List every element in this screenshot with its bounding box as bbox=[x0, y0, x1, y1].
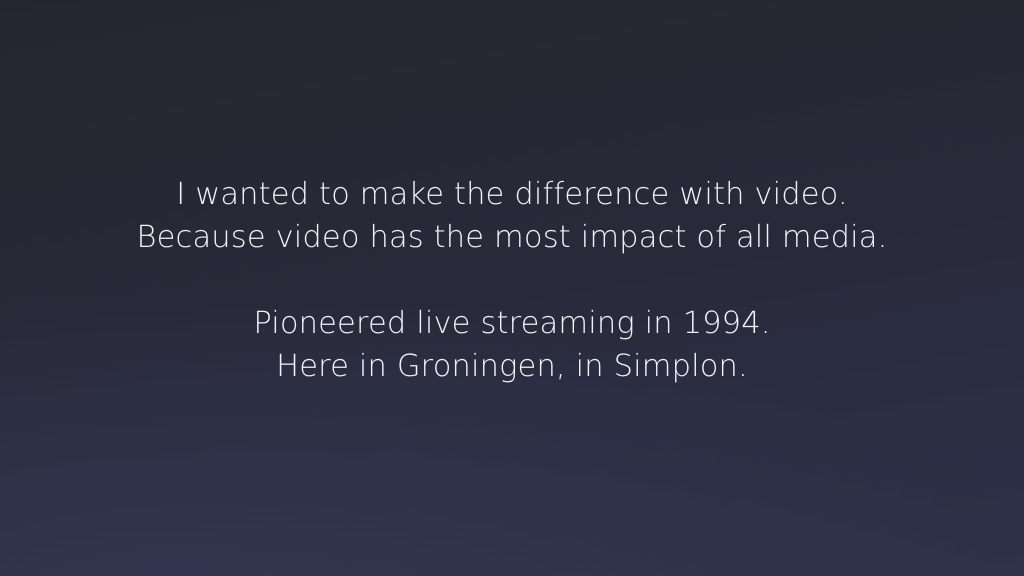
slide-content: I wanted to make the difference with vid… bbox=[0, 0, 1024, 576]
slide-text-line: I wanted to make the difference with vid… bbox=[0, 173, 1024, 216]
slide-text-line: Here in Groningen, in Simplon. bbox=[0, 345, 1024, 388]
slide-text-line: Because video has the most impact of all… bbox=[0, 216, 1024, 259]
slide-paragraph-primary: I wanted to make the difference with vid… bbox=[0, 173, 1024, 259]
slide-text-line: Pioneered live streaming in 1994. bbox=[0, 302, 1024, 345]
presentation-slide: I wanted to make the difference with vid… bbox=[0, 0, 1024, 576]
slide-paragraph-secondary: Pioneered live streaming in 1994. Here i… bbox=[0, 302, 1024, 388]
